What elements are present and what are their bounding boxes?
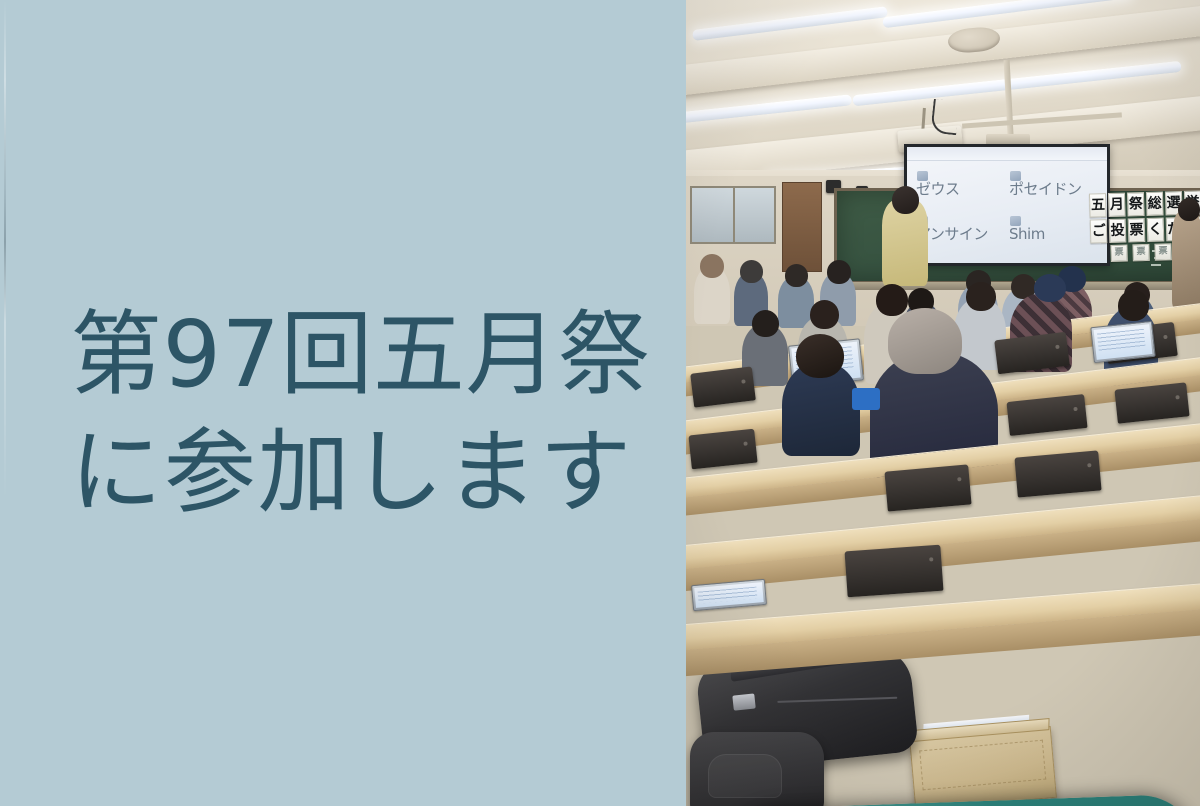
chair (1006, 394, 1087, 436)
chair (688, 429, 757, 470)
wall-sign-char: 投 (1109, 219, 1127, 243)
slide-tile-grid: ゼウス ポセイドン アンサイン Shim (915, 167, 1099, 255)
attendee-head (740, 260, 763, 283)
poster-canvas: 第97回五月祭 に参加します (0, 0, 1200, 806)
box-perforation (919, 740, 1046, 791)
wall-sign-char: 五 (1089, 193, 1107, 217)
cardboard-box (909, 726, 1057, 806)
wall-sign-char: 票 (1110, 245, 1127, 262)
slide-tile: アンサイン (915, 212, 1006, 255)
wall-sign-char: 票 (1128, 218, 1146, 242)
black-shoulder-bag (690, 732, 824, 806)
standing-attendee-head (1178, 198, 1200, 221)
headline-line-1: 第97回五月祭 (70, 296, 670, 414)
window (690, 186, 776, 244)
wall-sign-char: 総 (1146, 192, 1164, 216)
slide-tile: ポセイドン (1008, 167, 1099, 210)
chair (884, 464, 971, 511)
attendee-child-head (796, 334, 844, 378)
attendee-head (810, 300, 839, 329)
attendee-head (876, 284, 908, 316)
chair (1014, 450, 1101, 497)
attendee-head (827, 260, 851, 284)
slide-tile-label: ポセイドン (1009, 182, 1082, 197)
wall-sign-char: ご (1090, 219, 1108, 243)
attendee-head (966, 282, 996, 311)
bag-pocket (708, 754, 782, 798)
attendee-head (700, 254, 724, 278)
laptop (1090, 321, 1155, 363)
projection-screen: ゼウス ポセイドン アンサイン Shim (904, 144, 1110, 266)
fluorescent-light-icon (692, 6, 888, 41)
fluorescent-light-icon (686, 94, 852, 125)
wall-sign-char: く (1146, 217, 1164, 241)
slide-tile: ゼウス (915, 167, 1006, 210)
seating-area (686, 262, 1200, 806)
attendee-adult-head (888, 308, 962, 374)
smartphone (852, 388, 880, 410)
chair (845, 545, 944, 598)
slide-tile-label: ゼウス (916, 182, 960, 197)
headline-line-2: に参加します (70, 414, 670, 532)
wall-sign-char: 祭 (1127, 192, 1145, 216)
wall-sign-char: 月 (1108, 193, 1126, 217)
bag-buckle-icon (732, 693, 755, 710)
slide-toolbar (907, 147, 1107, 161)
presenter-head (892, 186, 919, 214)
attendee-head (785, 264, 808, 287)
chair (690, 366, 756, 407)
door (782, 182, 822, 272)
attendee-head (1118, 290, 1149, 321)
slide-tile-label: Shim (1009, 227, 1045, 242)
bag-seam (777, 697, 897, 703)
chair (1114, 382, 1189, 423)
page-title: 第97回五月祭 に参加します (70, 296, 670, 532)
attendee-head (752, 310, 779, 337)
text-panel: 第97回五月祭 に参加します (0, 0, 686, 806)
attendee-head (1034, 274, 1066, 302)
lecture-hall-photo: ゼウス ポセイドン アンサイン Shim (686, 0, 1200, 806)
slide-tile: Shim (1008, 212, 1099, 255)
laptop (691, 579, 767, 611)
wall-sign-char: 票 (1154, 243, 1171, 260)
wall-sign-char: 票 (1132, 244, 1149, 261)
